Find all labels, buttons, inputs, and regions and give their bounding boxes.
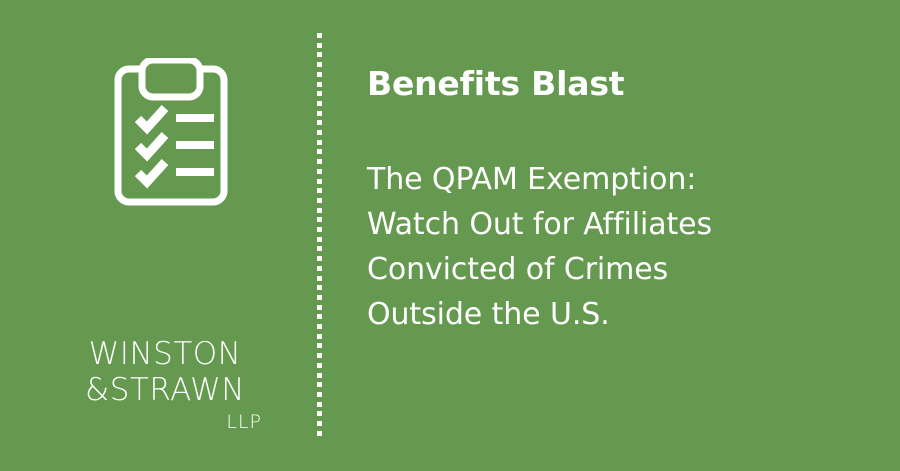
headline-line: Watch Out for Affiliates: [367, 202, 837, 247]
firm-logo-line-2: &STRAWN: [60, 372, 270, 408]
divider-dot: [317, 52, 322, 57]
divider-dot: [317, 120, 322, 125]
divider-dot: [317, 62, 322, 67]
headline: The QPAM Exemption: Watch Out for Affili…: [367, 157, 837, 337]
divider-dot: [317, 334, 322, 339]
divider-dot: [317, 276, 322, 281]
divider-dot: [317, 33, 322, 38]
divider-dot: [317, 188, 322, 193]
divider-dot: [317, 208, 322, 213]
divider-dot: [317, 431, 322, 436]
headline-line: The QPAM Exemption:: [367, 157, 837, 202]
divider-dot: [317, 324, 322, 329]
right-panel: Benefits Blast The QPAM Exemption: Watch…: [367, 0, 867, 471]
eyebrow-title: Benefits Blast: [367, 64, 624, 104]
divider-dot: [317, 353, 322, 358]
divider-dot: [317, 382, 322, 387]
benefits-blast-banner: WINSTON &STRAWN LLP Benefits Blast The Q…: [0, 0, 900, 471]
divider-dot: [317, 91, 322, 96]
divider-dot: [317, 295, 322, 300]
divider-dot: [317, 227, 322, 232]
divider-dot: [317, 402, 322, 407]
divider-dot: [317, 140, 322, 145]
divider-dot: [317, 72, 322, 77]
divider-dot: [317, 101, 322, 106]
divider-dot: [317, 343, 322, 348]
divider-dot: [317, 305, 322, 310]
divider-dot: [317, 421, 322, 426]
left-panel: WINSTON &STRAWN LLP: [0, 0, 320, 471]
divider-dot: [317, 246, 322, 251]
divider-dot: [317, 285, 322, 290]
divider-dot: [317, 198, 322, 203]
divider-dot: [317, 43, 322, 48]
divider-dot: [317, 373, 322, 378]
divider-dot: [317, 130, 322, 135]
divider-dot: [317, 266, 322, 271]
divider-dot: [317, 111, 322, 116]
divider-dot: [317, 149, 322, 154]
divider-dot: [317, 392, 322, 397]
firm-logo: WINSTON &STRAWN LLP: [60, 336, 270, 434]
divider-dot: [317, 179, 322, 184]
divider-dot: [317, 411, 322, 416]
firm-logo-line-1: WINSTON: [60, 336, 270, 372]
divider-dot: [317, 169, 322, 174]
divider-dot: [317, 159, 322, 164]
clipboard-checklist-icon: [112, 58, 230, 208]
headline-line: Outside the U.S.: [367, 292, 837, 337]
firm-logo-suffix: LLP: [60, 410, 270, 434]
divider-dot: [317, 314, 322, 319]
headline-line: Convicted of Crimes: [367, 247, 837, 292]
divider-dot: [317, 363, 322, 368]
dotted-vertical-divider: [317, 33, 323, 441]
divider-dot: [317, 217, 322, 222]
divider-dot: [317, 237, 322, 242]
divider-dot: [317, 82, 322, 87]
divider-dot: [317, 256, 322, 261]
